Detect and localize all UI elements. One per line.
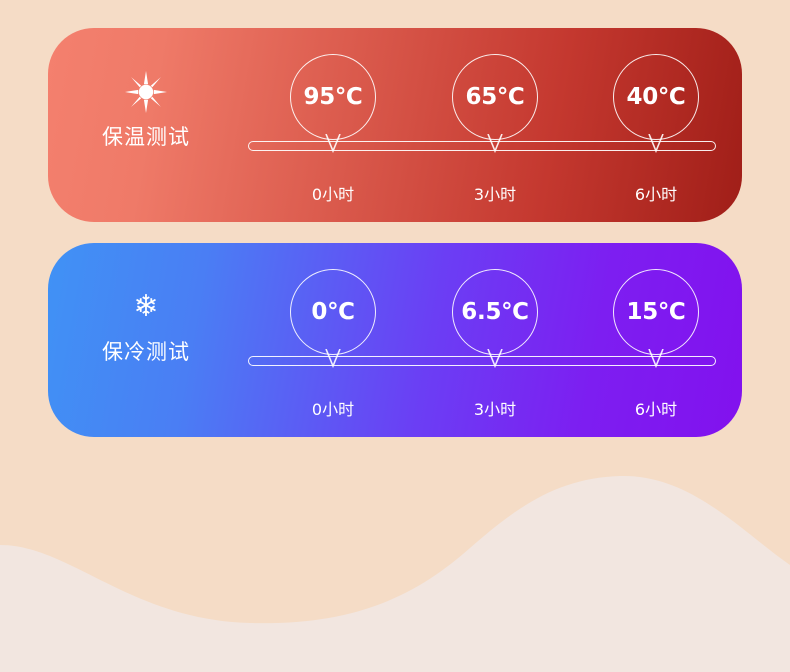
warm-bubble-2: 40℃ [613,54,699,140]
bubble-tail-icon [486,349,504,368]
warm-timeline: 95℃ 0小时 65℃ 3小时 [244,28,720,222]
cold-time-label-0: 0小时 [273,396,393,420]
bubble-tail-icon [324,349,342,368]
snowflake-glyph: ❄ [133,292,158,322]
cold-card-side: ❄ 保冷测试 [48,243,244,437]
warm-bubble-1: 65℃ [452,54,538,140]
warm-card-side: 保温测试 [48,28,244,222]
cold-timeline: 0℃ 0小时 6.5℃ 3小时 [244,243,720,437]
bubble-tail-icon [486,134,504,153]
cold-bubble-0: 0℃ [290,269,376,355]
warm-time-label-2: 6小时 [596,181,716,205]
cold-time-label-2: 6小时 [596,396,716,420]
bubble-tail-icon [324,134,342,153]
cold-temp-value-1: 6.5℃ [461,299,528,325]
sun-icon [125,69,167,115]
warm-temp-value-0: 95℃ [304,84,363,110]
cold-bubble-2: 15℃ [613,269,699,355]
cold-bubble-1: 6.5℃ [452,269,538,355]
warm-progress-bar [248,141,716,151]
warm-bubble-circle-2: 40℃ [613,54,699,140]
warm-time-label-1: 3小时 [435,181,555,205]
bubble-tail-icon [647,134,665,153]
snowflake-icon: ❄ [133,284,158,330]
warm-bubble-0: 95℃ [290,54,376,140]
bubble-tail-icon [647,349,665,368]
card-warm-test: 保温测试 95℃ 0小时 65℃ [48,28,742,222]
cold-card-label: 保冷测试 [102,336,190,366]
warm-temp-value-1: 65℃ [466,84,525,110]
cold-bubble-circle-2: 15℃ [613,269,699,355]
cold-bubble-circle-0: 0℃ [290,269,376,355]
cold-progress-bar [248,356,716,366]
warm-bubble-circle-0: 95℃ [290,54,376,140]
cold-temp-value-2: 15℃ [627,299,686,325]
warm-bubble-circle-1: 65℃ [452,54,538,140]
card-cold-test: ❄ 保冷测试 0℃ 0小时 6.5℃ [48,243,742,437]
cold-time-label-1: 3小时 [435,396,555,420]
page-root: 保温测试 95℃ 0小时 65℃ [0,0,790,672]
cold-bubble-circle-1: 6.5℃ [452,269,538,355]
warm-card-label: 保温测试 [102,121,190,151]
warm-temp-value-2: 40℃ [627,84,686,110]
warm-time-label-0: 0小时 [273,181,393,205]
cold-temp-value-0: 0℃ [311,299,354,325]
